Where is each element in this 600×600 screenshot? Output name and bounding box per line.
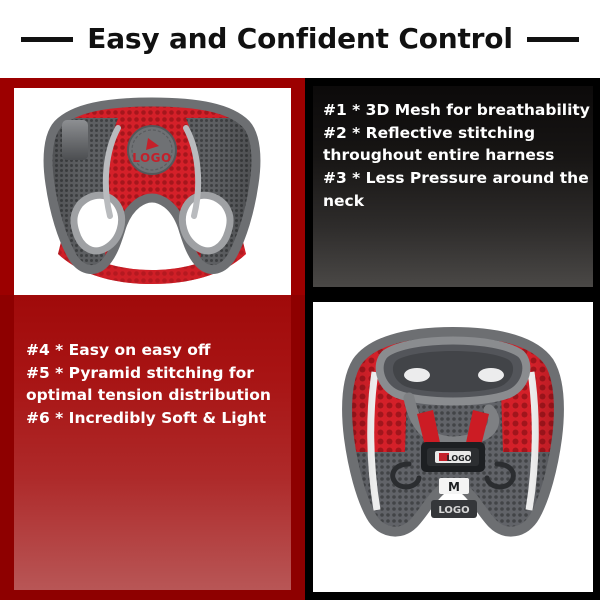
- feature-panel-dark: #1 * 3D Mesh for breathability #2 * Refl…: [305, 78, 600, 295]
- infographic-page: Easy and Confident Control: [0, 0, 600, 600]
- feature-line: #5 * Pyramid stitching for: [26, 362, 285, 385]
- feature-panel-red-inner: #4 * Easy on easy off #5 * Pyramid stitc…: [14, 295, 291, 590]
- feature-line: #2 * Reflective stitching: [323, 122, 585, 145]
- svg-text:M: M: [448, 480, 460, 494]
- buckle: LOGO: [421, 442, 485, 472]
- product-image-panel-back: LOGO M LOGO: [305, 295, 600, 600]
- feature-line: neck: [323, 190, 585, 213]
- svg-text:LOGO: LOGO: [132, 151, 171, 165]
- feature-line: #6 * Incredibly Soft & Light: [26, 407, 285, 430]
- leg-opening-left: [74, 195, 122, 251]
- feature-line: throughout entire harness: [323, 144, 585, 167]
- feature-line: optimal tension distribution: [26, 384, 285, 407]
- title-rule-left-icon: [21, 37, 73, 42]
- feature-line: #4 * Easy on easy off: [26, 339, 285, 362]
- feature-panel-dark-inner: #1 * 3D Mesh for breathability #2 * Refl…: [313, 86, 593, 287]
- logo-badge: LOGO: [128, 126, 176, 174]
- feature-line: #3 * Less Pressure around the: [323, 167, 585, 190]
- svg-text:LOGO: LOGO: [447, 454, 472, 463]
- page-title: Easy and Confident Control: [87, 25, 512, 53]
- feature-panel-red: #4 * Easy on easy off #5 * Pyramid stitc…: [0, 295, 305, 600]
- harness-back-illustration: LOGO M LOGO: [313, 302, 593, 592]
- header: Easy and Confident Control: [0, 0, 600, 78]
- title-rule-right-icon: [527, 37, 579, 42]
- feature-line: #1 * 3D Mesh for breathability: [323, 99, 585, 122]
- product-image-front: LOGO: [14, 88, 291, 295]
- leg-opening-right: [182, 195, 230, 251]
- harness-front-illustration: LOGO: [14, 88, 291, 295]
- brand-patch: LOGO: [431, 500, 477, 518]
- product-image-back: LOGO M LOGO: [313, 302, 593, 592]
- neck-strap-tab: [62, 120, 88, 160]
- product-image-panel-front: LOGO: [0, 78, 305, 295]
- size-label: M: [439, 478, 469, 494]
- svg-text:LOGO: LOGO: [438, 505, 469, 516]
